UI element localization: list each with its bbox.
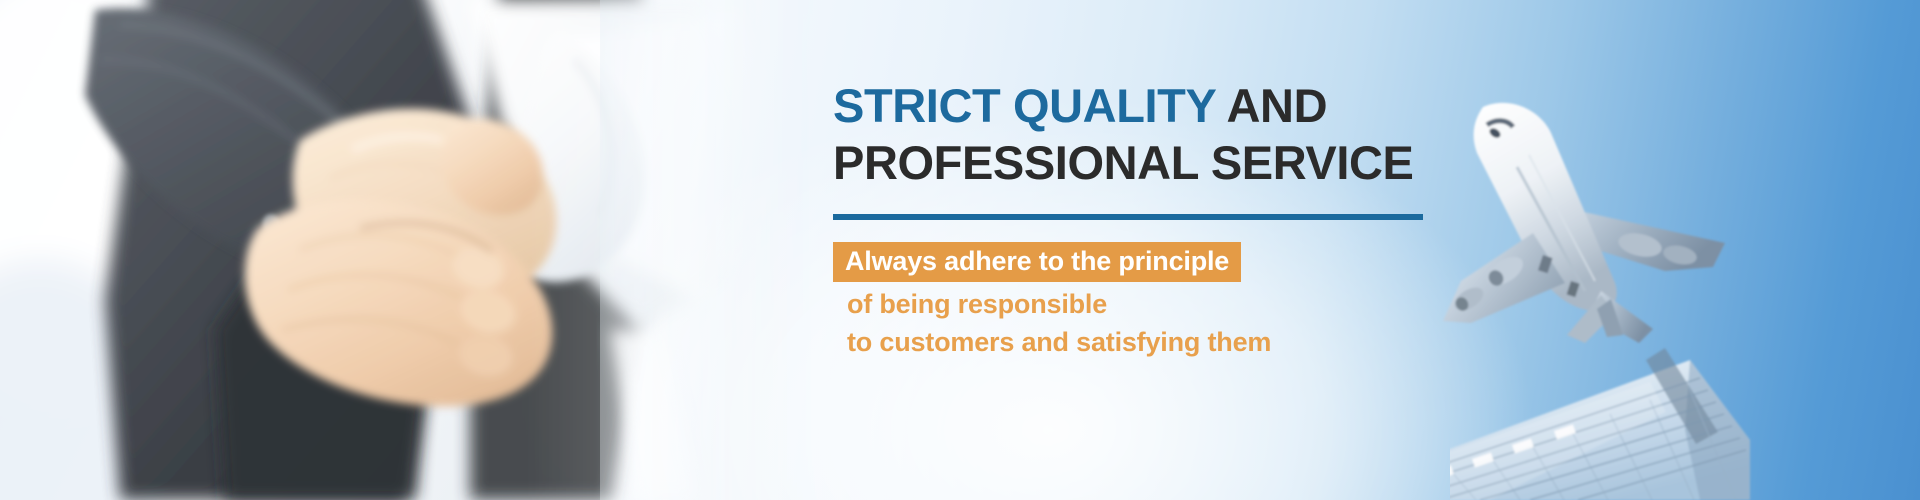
handshake-photo xyxy=(0,0,850,500)
promo-banner: STRICT QUALITY AND PROFESSIONAL SERVICE … xyxy=(0,0,1920,500)
headline-line-2: PROFESSIONAL SERVICE xyxy=(833,135,1553,190)
headline-rest-text: AND xyxy=(1216,79,1328,132)
tagline-line-2: of being responsible xyxy=(833,289,1553,320)
headline-accent-text: STRICT QUALITY xyxy=(833,79,1216,132)
headline-line-1: STRICT QUALITY AND xyxy=(833,78,1553,133)
tagline-group: Always adhere to the principle of being … xyxy=(833,220,1553,359)
banner-copy: STRICT QUALITY AND PROFESSIONAL SERVICE … xyxy=(833,78,1553,359)
tagline-line-3: to customers and satisfying them xyxy=(833,327,1553,358)
tagline-highlight: Always adhere to the principle xyxy=(833,242,1241,282)
